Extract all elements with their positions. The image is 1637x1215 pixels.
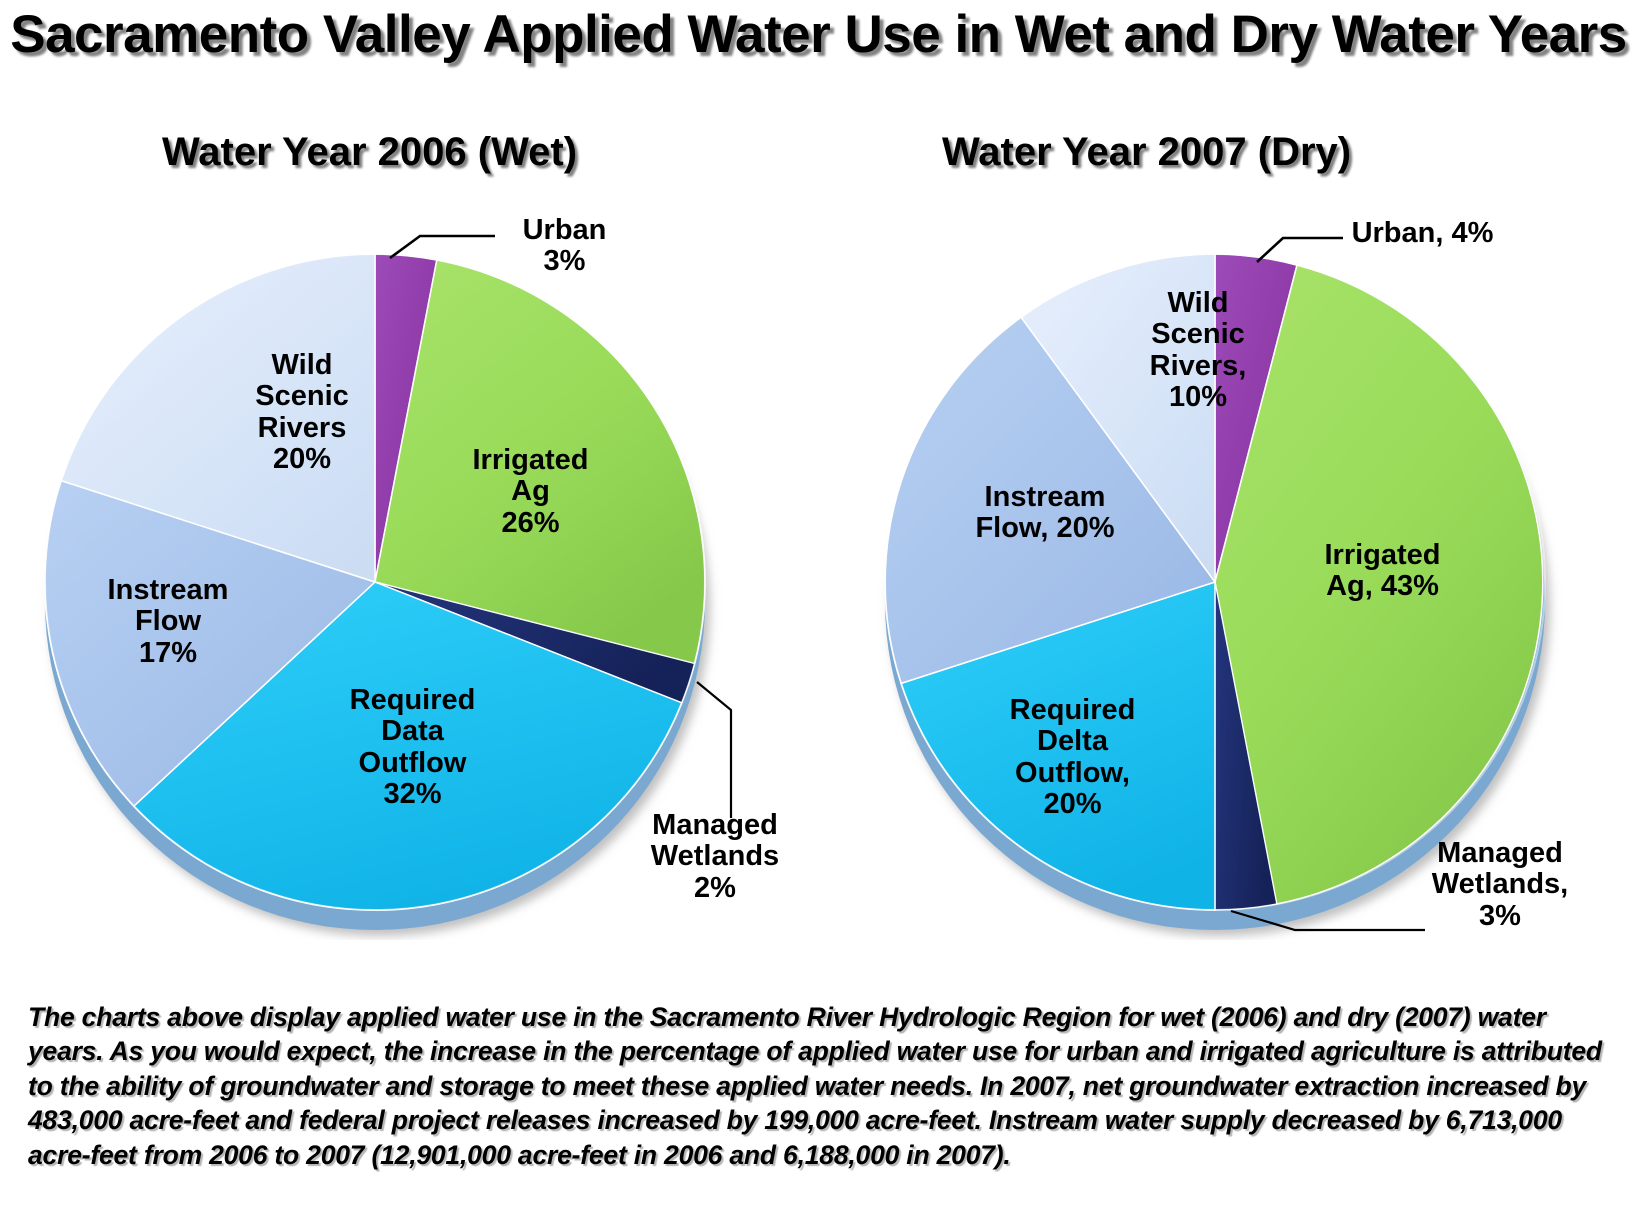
pie-label-urban-2007: Urban, 4% <box>1315 218 1530 249</box>
chart-title-2006: Water Year 2006 (Wet) <box>162 130 577 175</box>
caption-text: The charts above display applied water u… <box>28 1000 1613 1172</box>
pie-label-irrigated-ag-2007: Irrigated Ag, 43% <box>1275 540 1490 603</box>
pie-label-wild-scenic-rivers-2006: Wild Scenic Rivers 20% <box>207 350 397 475</box>
pie-label-urban-2006: Urban 3% <box>472 215 657 278</box>
pie-label-irrigated-ag-2006: Irrigated Ag 26% <box>443 445 618 539</box>
pie-label-wild-scenic-rivers-2007: Wild Scenic Rivers, 10% <box>1113 288 1283 413</box>
pie-label-required-data-outflow-2006: Required Data Outflow 32% <box>305 685 520 810</box>
pie-label-required-delta-outflow-2007: Required Delta Outflow, 20% <box>965 695 1180 820</box>
page-title: Sacramento Valley Applied Water Use in W… <box>0 4 1637 65</box>
pie-label-instream-flow-2007: Instream Flow, 20% <box>925 482 1165 545</box>
pie-chart-2007: Irrigated Ag, 43% Required Delta Outflow… <box>865 230 1605 940</box>
pie-chart-2006: Irrigated Ag 26% Required Data Outflow 3… <box>25 230 745 940</box>
pie-label-instream-flow-2006: Instream Flow 17% <box>73 575 263 669</box>
pie-label-managed-wetlands-2006: Managed Wetlands 2% <box>615 810 815 904</box>
pie-label-managed-wetlands-2007: Managed Wetlands, 3% <box>1395 838 1605 932</box>
leader-line-managed-wetlands-2006 <box>697 682 731 818</box>
chart-title-2007: Water Year 2007 (Dry) <box>942 130 1351 175</box>
